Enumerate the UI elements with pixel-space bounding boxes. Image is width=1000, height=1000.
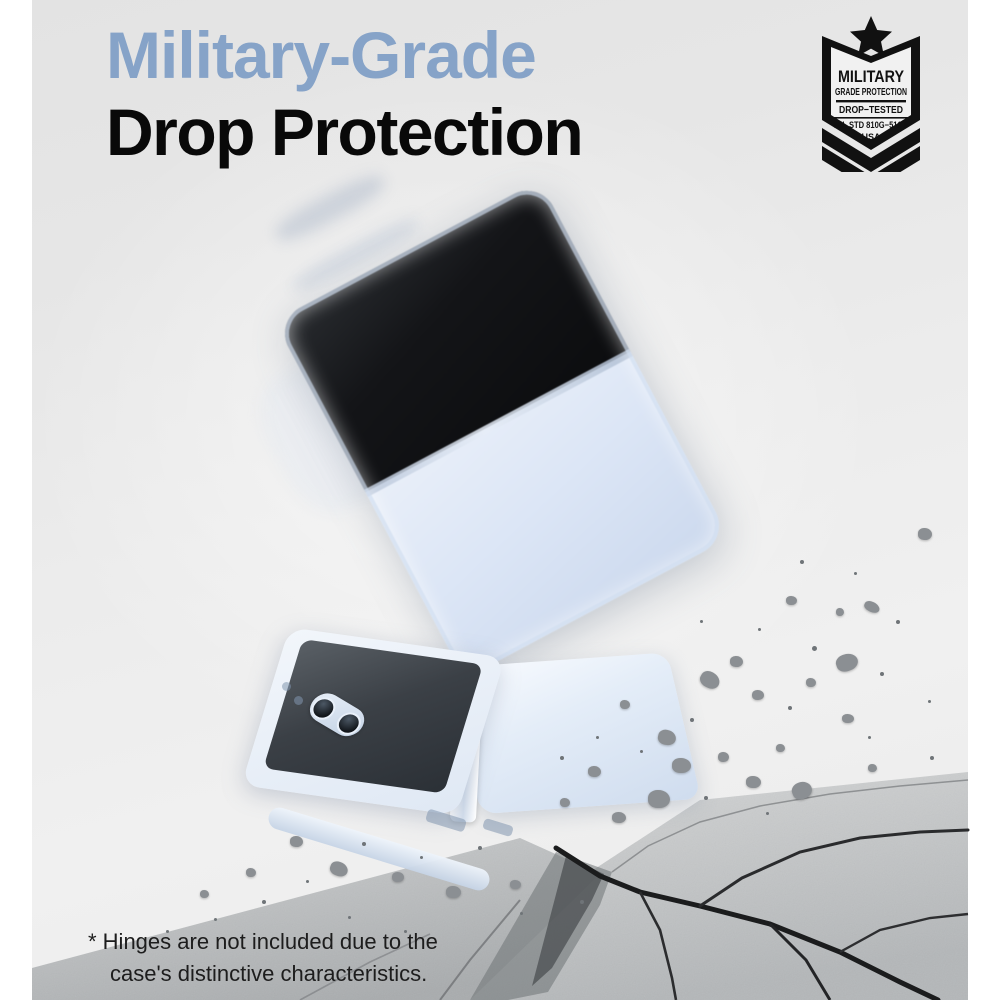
footnote-line-1: * Hinges are not included due to the [88, 926, 528, 958]
badge-line-3: DROP−TESTED [839, 104, 903, 116]
badge-divider [834, 117, 908, 119]
falling-phone-case-rim [274, 180, 729, 678]
landed-phone-group [258, 636, 678, 866]
headline-line-2: Drop Protection [106, 96, 582, 168]
side-button [294, 696, 303, 705]
product-marketing-banner: Military-Grade Drop Protection MILITARY … [0, 0, 1000, 1000]
headline-block: Military-Grade Drop Protection [106, 20, 582, 168]
landed-phone-screen [263, 639, 483, 793]
side-button [282, 682, 291, 691]
badge-divider [836, 100, 906, 102]
military-grade-badge: MILITARY GRADE PROTECTION DROP−TESTED MI… [812, 12, 930, 172]
footnote-line-2: case's distinctive characteristics. [88, 958, 528, 990]
badge-line-1: MILITARY [838, 67, 905, 86]
falling-flip-phone [274, 180, 729, 678]
badge-line-4: MIL STD 810G−516 6 [834, 120, 908, 130]
headline-line-1: Military-Grade [106, 20, 582, 90]
badge-line-5: USA [862, 132, 881, 143]
badge-line-2: GRADE PROTECTION [835, 86, 907, 98]
footnote-block: * Hinges are not included due to the cas… [88, 926, 528, 990]
badge-graphic: MILITARY GRADE PROTECTION DROP−TESTED MI… [812, 12, 930, 172]
speaker-grille [482, 818, 514, 837]
falling-phone-group [300, 205, 730, 665]
